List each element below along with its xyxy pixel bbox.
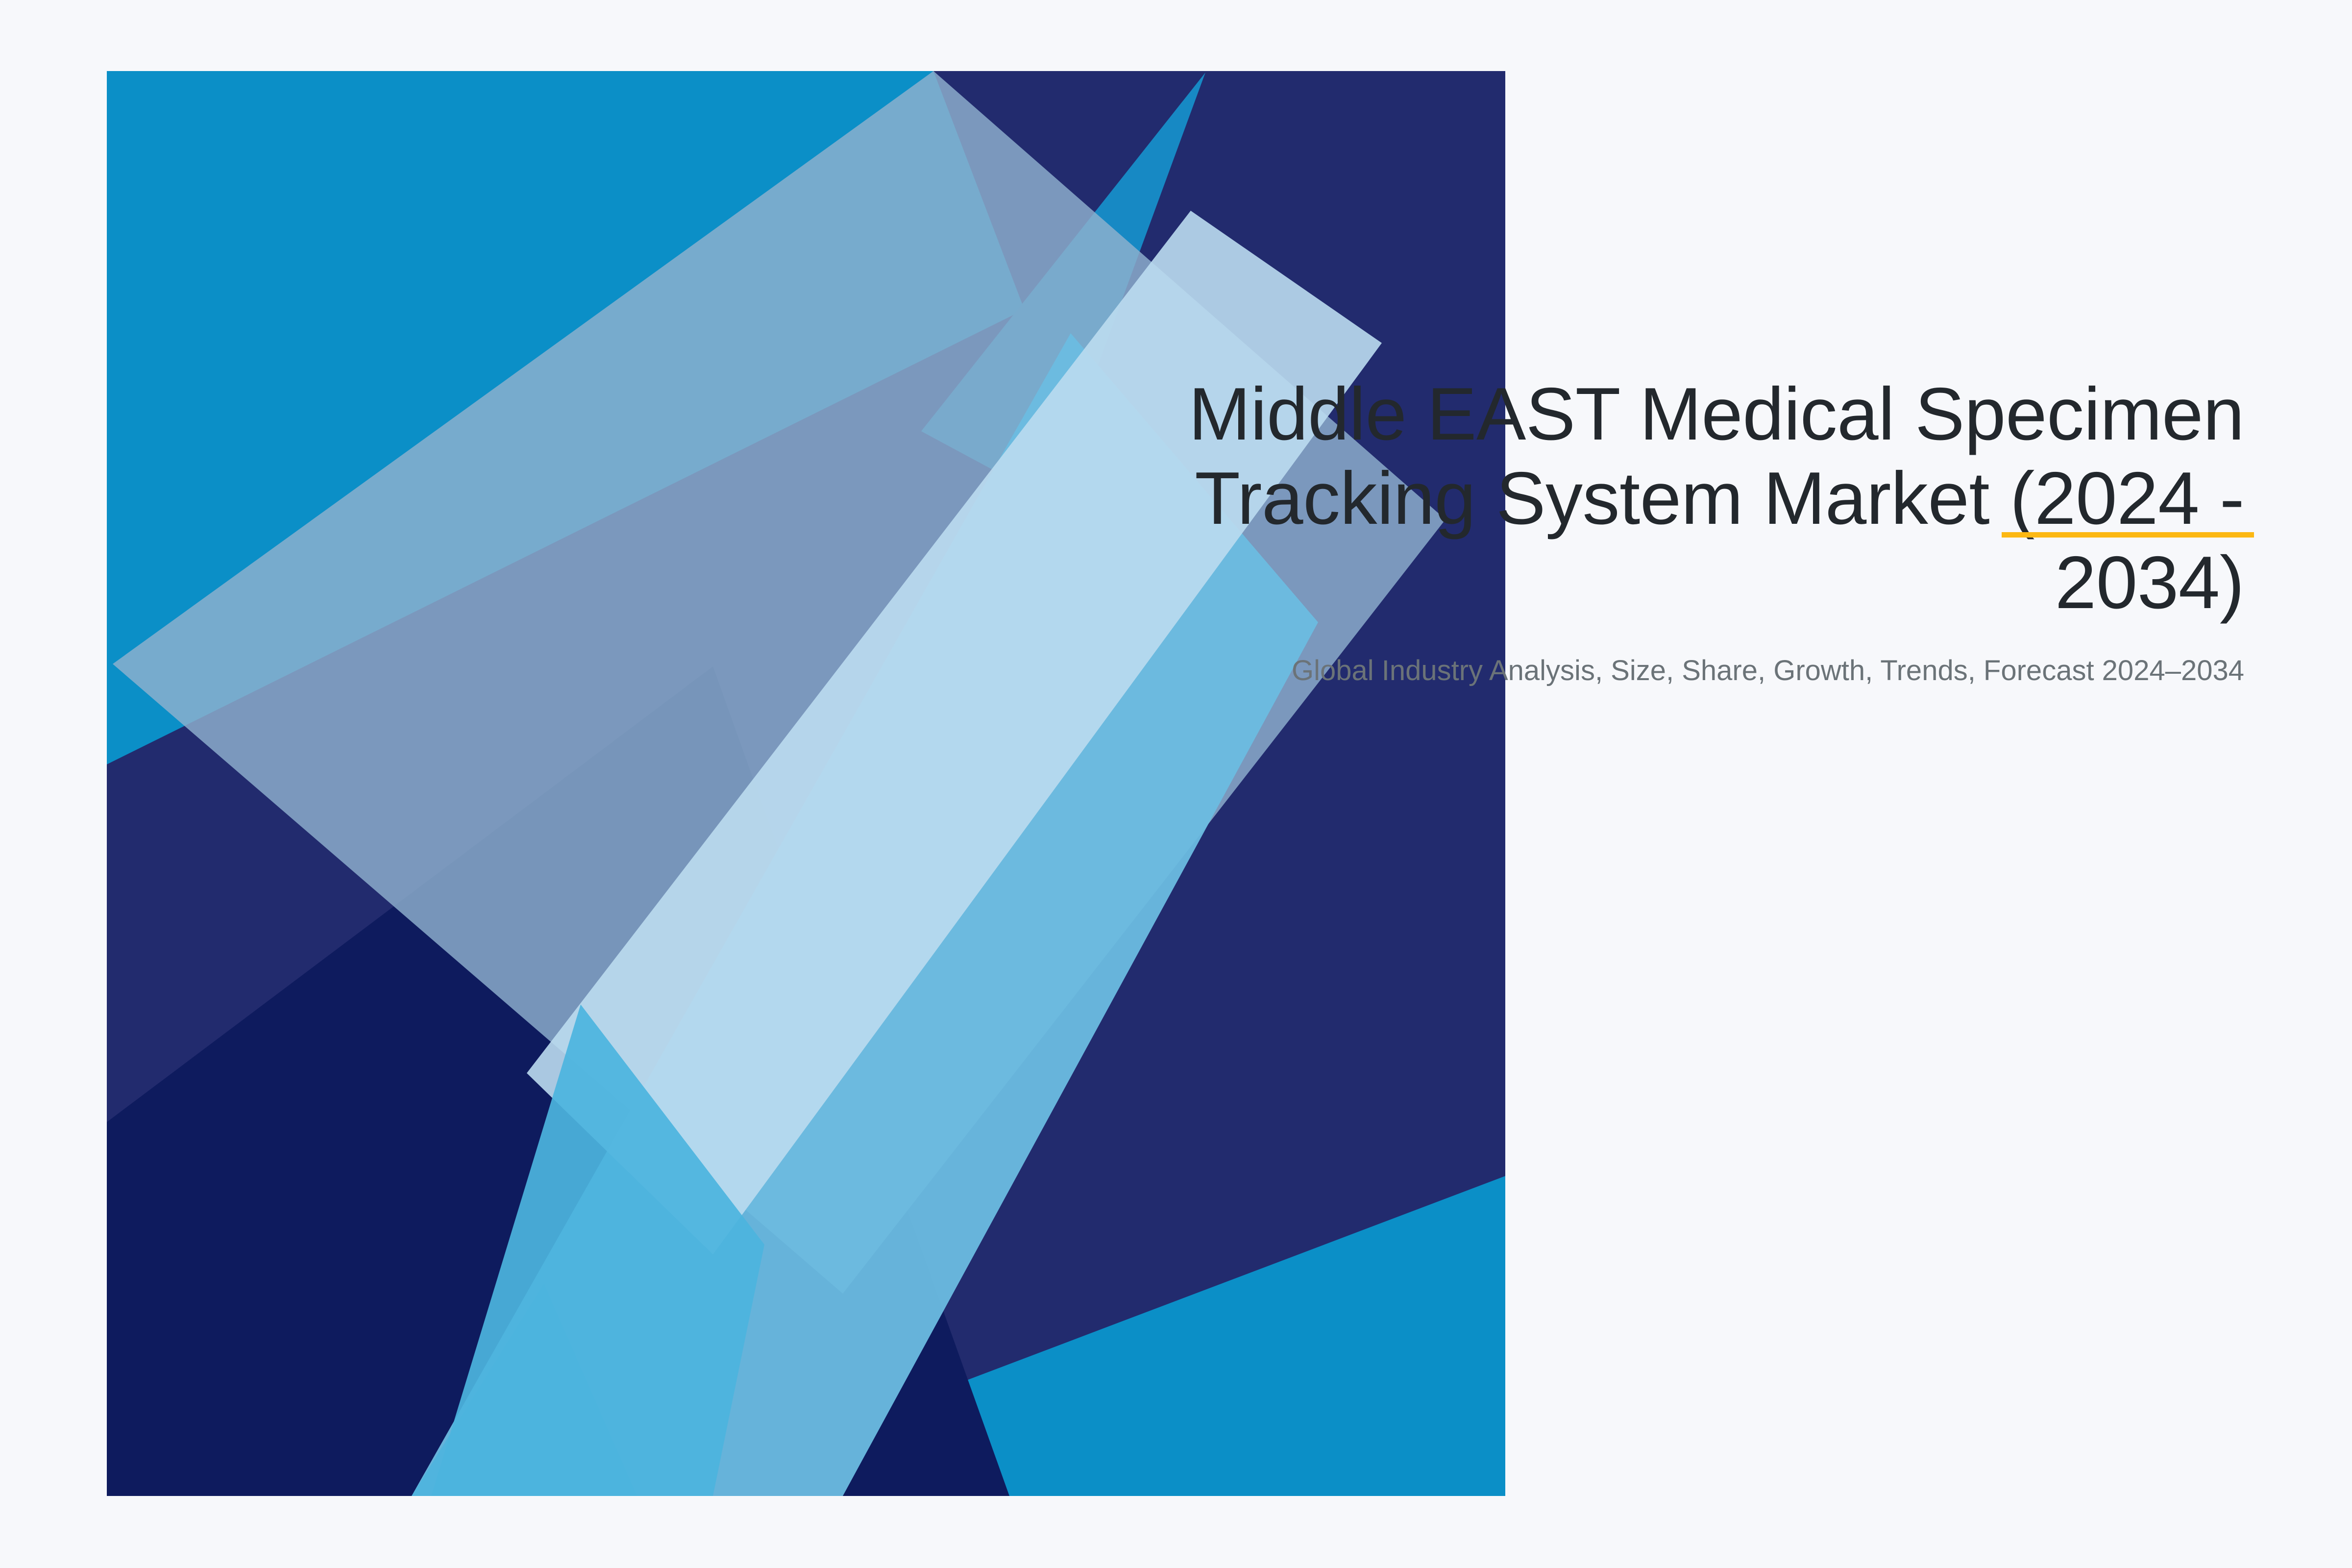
cover-page: Middle EAST Medical Specimen Tracking Sy… (0, 0, 2352, 1568)
page-title: Middle EAST Medical Specimen Tracking Sy… (1029, 372, 2244, 625)
page-subtitle: Global Industry Analysis, Size, Share, G… (1029, 652, 2244, 689)
abstract-geometric-artwork (0, 0, 2352, 1568)
title-accent-underline (2002, 532, 2254, 538)
cover-text-block: Middle EAST Medical Specimen Tracking Sy… (1029, 372, 2244, 689)
